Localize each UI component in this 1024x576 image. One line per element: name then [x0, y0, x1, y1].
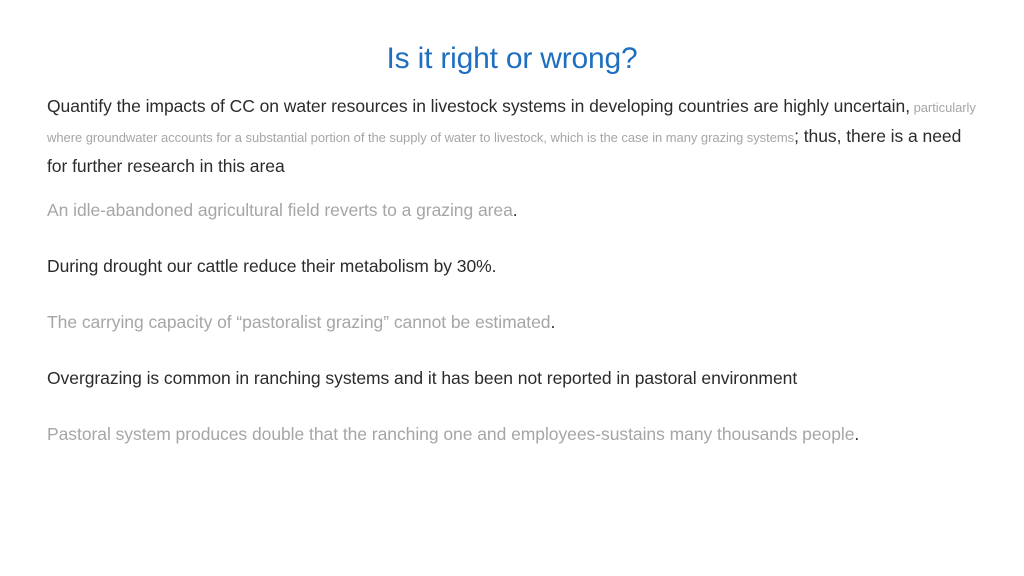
statement-2-terminator: .: [513, 200, 518, 220]
statement-block-3: During drought our cattle reduce their m…: [47, 252, 977, 281]
statement-block-2: An idle-abandoned agricultural field rev…: [47, 196, 977, 225]
page-title: Is it right or wrong?: [0, 42, 1024, 76]
statement-3-text: During drought our cattle reduce their m…: [47, 252, 977, 281]
statement-5-text: Overgrazing is common in ranching system…: [47, 364, 977, 393]
statement-4-terminator: .: [550, 312, 555, 332]
statement-1-segment-main: Quantify the impacts of CC on water reso…: [47, 96, 910, 116]
statement-block-6: Pastoral system produces double that the…: [47, 420, 977, 449]
statement-block-1: Quantify the impacts of CC on water reso…: [47, 92, 977, 181]
slide-canvas: Is it right or wrong? Quantify the impac…: [0, 0, 1024, 576]
statement-6-text: Pastoral system produces double that the…: [47, 420, 977, 449]
statement-1-segment-note-b: which is the case in many grazing system…: [547, 130, 794, 145]
statement-4-text: The carrying capacity of “pastoralist gr…: [47, 308, 977, 337]
statement-4-body: The carrying capacity of “pastoralist gr…: [47, 312, 550, 332]
statement-1-text: Quantify the impacts of CC on water reso…: [47, 92, 977, 181]
statement-2-body: An idle-abandoned agricultural field rev…: [47, 200, 513, 220]
statement-2-text: An idle-abandoned agricultural field rev…: [47, 196, 977, 225]
statement-block-5: Overgrazing is common in ranching system…: [47, 364, 977, 393]
statement-block-4: The carrying capacity of “pastoralist gr…: [47, 308, 977, 337]
statement-6-terminator: .: [854, 424, 859, 444]
statement-6-body: Pastoral system produces double that the…: [47, 424, 854, 444]
